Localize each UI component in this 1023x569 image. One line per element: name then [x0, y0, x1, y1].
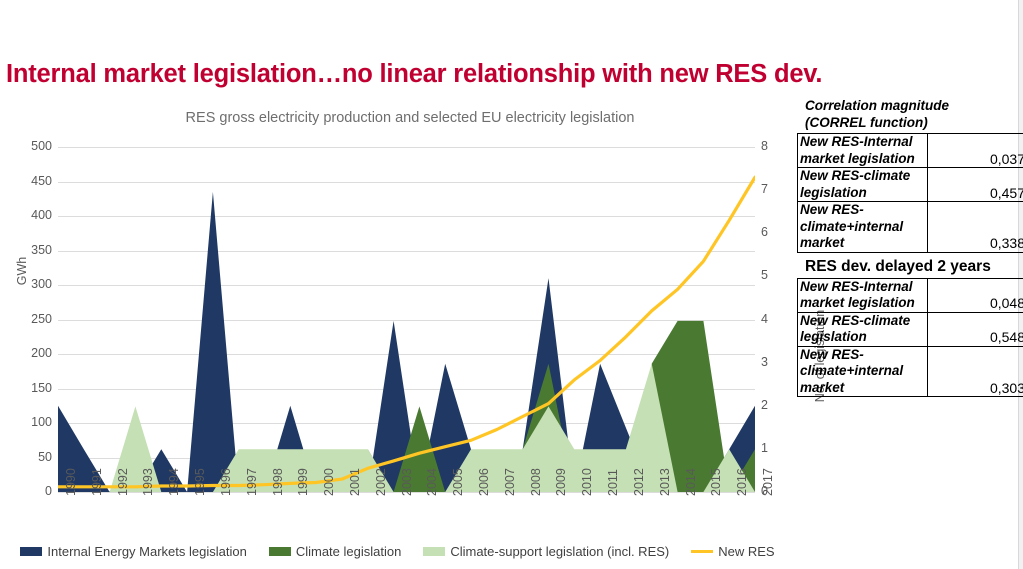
correlation-table-primary: New RES-Internal market legislation0,037…	[797, 133, 1023, 253]
x-axis-tick-label: 2012	[632, 468, 646, 496]
correlation-delayed-value-cell: 0,548	[928, 312, 1023, 346]
correlation-delayed-value-cell: 0,048	[928, 278, 1023, 312]
page-title: Internal market legislation…no linear re…	[6, 60, 1016, 89]
correlation-header-line-1: Correlation magnitude	[805, 98, 1019, 115]
y-axis-tick-label: 100	[8, 415, 52, 429]
delayed-panel-header: RES dev. delayed 2 years	[805, 258, 1019, 276]
legend-label: New RES	[718, 544, 774, 559]
y-axis-tick-label: 450	[8, 174, 52, 188]
legend-swatch-icon	[423, 547, 445, 556]
chart-series-svg	[58, 147, 755, 492]
legend-swatch-icon	[269, 547, 291, 556]
table-row: New RES-Internal market legislation0,048	[798, 278, 1023, 312]
correlation-value-cell: 0,037	[928, 134, 1023, 168]
plot-area: 050100150200250300350400450500 012345678…	[58, 147, 755, 492]
y-axis-tick-label: 50	[8, 450, 52, 464]
legend-label: Climate legislation	[296, 544, 402, 559]
y-axis-tick-label: 200	[8, 346, 52, 360]
correlation-panel-header: Correlation magnitude (CORREL function)	[805, 98, 1019, 131]
correlation-table-delayed: New RES-Internal market legislation0,048…	[797, 278, 1023, 398]
x-axis-tick-label: 2008	[529, 468, 543, 496]
x-axis-tick-label: 2002	[374, 468, 388, 496]
legend-item[interactable]: Climate legislation	[269, 544, 402, 559]
y-axis-tick-label: 0	[8, 484, 52, 498]
correlation-value-cell: 0,457	[928, 168, 1023, 202]
correlation-header-line-2: (CORREL function)	[805, 115, 1019, 132]
y2-axis-tick-label: 7	[761, 182, 791, 196]
x-axis-tick-label: 1991	[90, 468, 104, 496]
legend-item[interactable]: Internal Energy Markets legislation	[20, 544, 246, 559]
y2-axis-tick-label: 5	[761, 268, 791, 282]
legend-label: Internal Energy Markets legislation	[47, 544, 246, 559]
x-axis-tick-label: 1995	[193, 468, 207, 496]
y-axis-tick-label: 350	[8, 243, 52, 257]
correlation-label-cell: New RES-Internal market legislation	[798, 134, 928, 168]
x-axis-tick-label: 2016	[735, 468, 749, 496]
x-axis-tick-label: 2013	[658, 468, 672, 496]
x-axis-tick-label: 2015	[709, 468, 723, 496]
legend-swatch-icon	[691, 550, 713, 553]
correlation-panel: Correlation magnitude (CORREL function) …	[797, 98, 1019, 397]
x-axis-tick-label: 1997	[245, 468, 259, 496]
y2-axis-tick-label: 6	[761, 225, 791, 239]
x-axis-tick-label: 2017	[761, 468, 775, 496]
x-axis-tick-label: 2005	[451, 468, 465, 496]
x-axis-tick-label: 2006	[477, 468, 491, 496]
legend-item[interactable]: Climate-support legislation (incl. RES)	[423, 544, 669, 559]
correlation-delayed-label-cell: New RES-Internal market legislation	[798, 278, 928, 312]
y2-axis-tick-label: 4	[761, 312, 791, 326]
x-axis-tick-label: 2014	[684, 468, 698, 496]
y-axis-tick-label: 300	[8, 277, 52, 291]
x-axis-tick-label: 2011	[606, 469, 620, 496]
x-axis-tick-label: 2009	[554, 468, 568, 496]
legend-item[interactable]: New RES	[691, 544, 774, 559]
x-axis-tick-label: 2010	[580, 468, 594, 496]
slide-canvas: Internal market legislation…no linear re…	[0, 0, 1023, 569]
legend-swatch-icon	[20, 547, 42, 556]
x-axis-tick-label: 1992	[116, 468, 130, 496]
table-row: New RES-climate+internal market0,338	[798, 202, 1023, 253]
chart-title: RES gross electricity production and sel…	[60, 110, 760, 126]
table-row: New RES-climate legislation0,548	[798, 312, 1023, 346]
x-axis-tick-label: 1999	[296, 468, 310, 496]
x-axis-tick-label: 1996	[219, 468, 233, 496]
correlation-label-cell: New RES-climate legislation	[798, 168, 928, 202]
table-row: New RES-Internal market legislation0,037	[798, 134, 1023, 168]
y-axis-tick-label: 250	[8, 312, 52, 326]
correlation-delayed-label-cell: New RES-climate+internal market	[798, 346, 928, 397]
x-axis-tick-label: 1994	[167, 468, 181, 496]
legend-label: Climate-support legislation (incl. RES)	[450, 544, 669, 559]
y-axis-tick-label: 400	[8, 208, 52, 222]
x-axis-tick-label: 2000	[322, 468, 336, 496]
x-axis-tick-label: 1993	[141, 468, 155, 496]
x-axis-tick-label: 1998	[271, 468, 285, 496]
chart-legend: Internal Energy Markets legislationClima…	[0, 544, 795, 559]
x-axis-tick-label: 2001	[348, 468, 362, 496]
correlation-delayed-value-cell: 0,303	[928, 346, 1023, 397]
x-axis-tick-label: 1990	[64, 468, 78, 496]
x-axis-tick-label: 2007	[503, 468, 517, 496]
y2-axis-tick-label: 8	[761, 139, 791, 153]
correlation-delayed-label-cell: New RES-climate legislation	[798, 312, 928, 346]
y2-axis-tick-label: 2	[761, 398, 791, 412]
chart-container: RES gross electricity production and sel…	[0, 104, 795, 569]
y2-axis-tick-label: 1	[761, 441, 791, 455]
table-row: New RES-climate legislation0,457	[798, 168, 1023, 202]
x-axis-tick-label: 2004	[425, 468, 439, 496]
y-axis-tick-label: 500	[8, 139, 52, 153]
correlation-label-cell: New RES-climate+internal market	[798, 202, 928, 253]
y-axis-tick-label: 150	[8, 381, 52, 395]
correlation-value-cell: 0,338	[928, 202, 1023, 253]
x-axis-tick-label: 2003	[400, 468, 414, 496]
y2-axis-tick-label: 3	[761, 355, 791, 369]
table-row: New RES-climate+internal market0,303	[798, 346, 1023, 397]
